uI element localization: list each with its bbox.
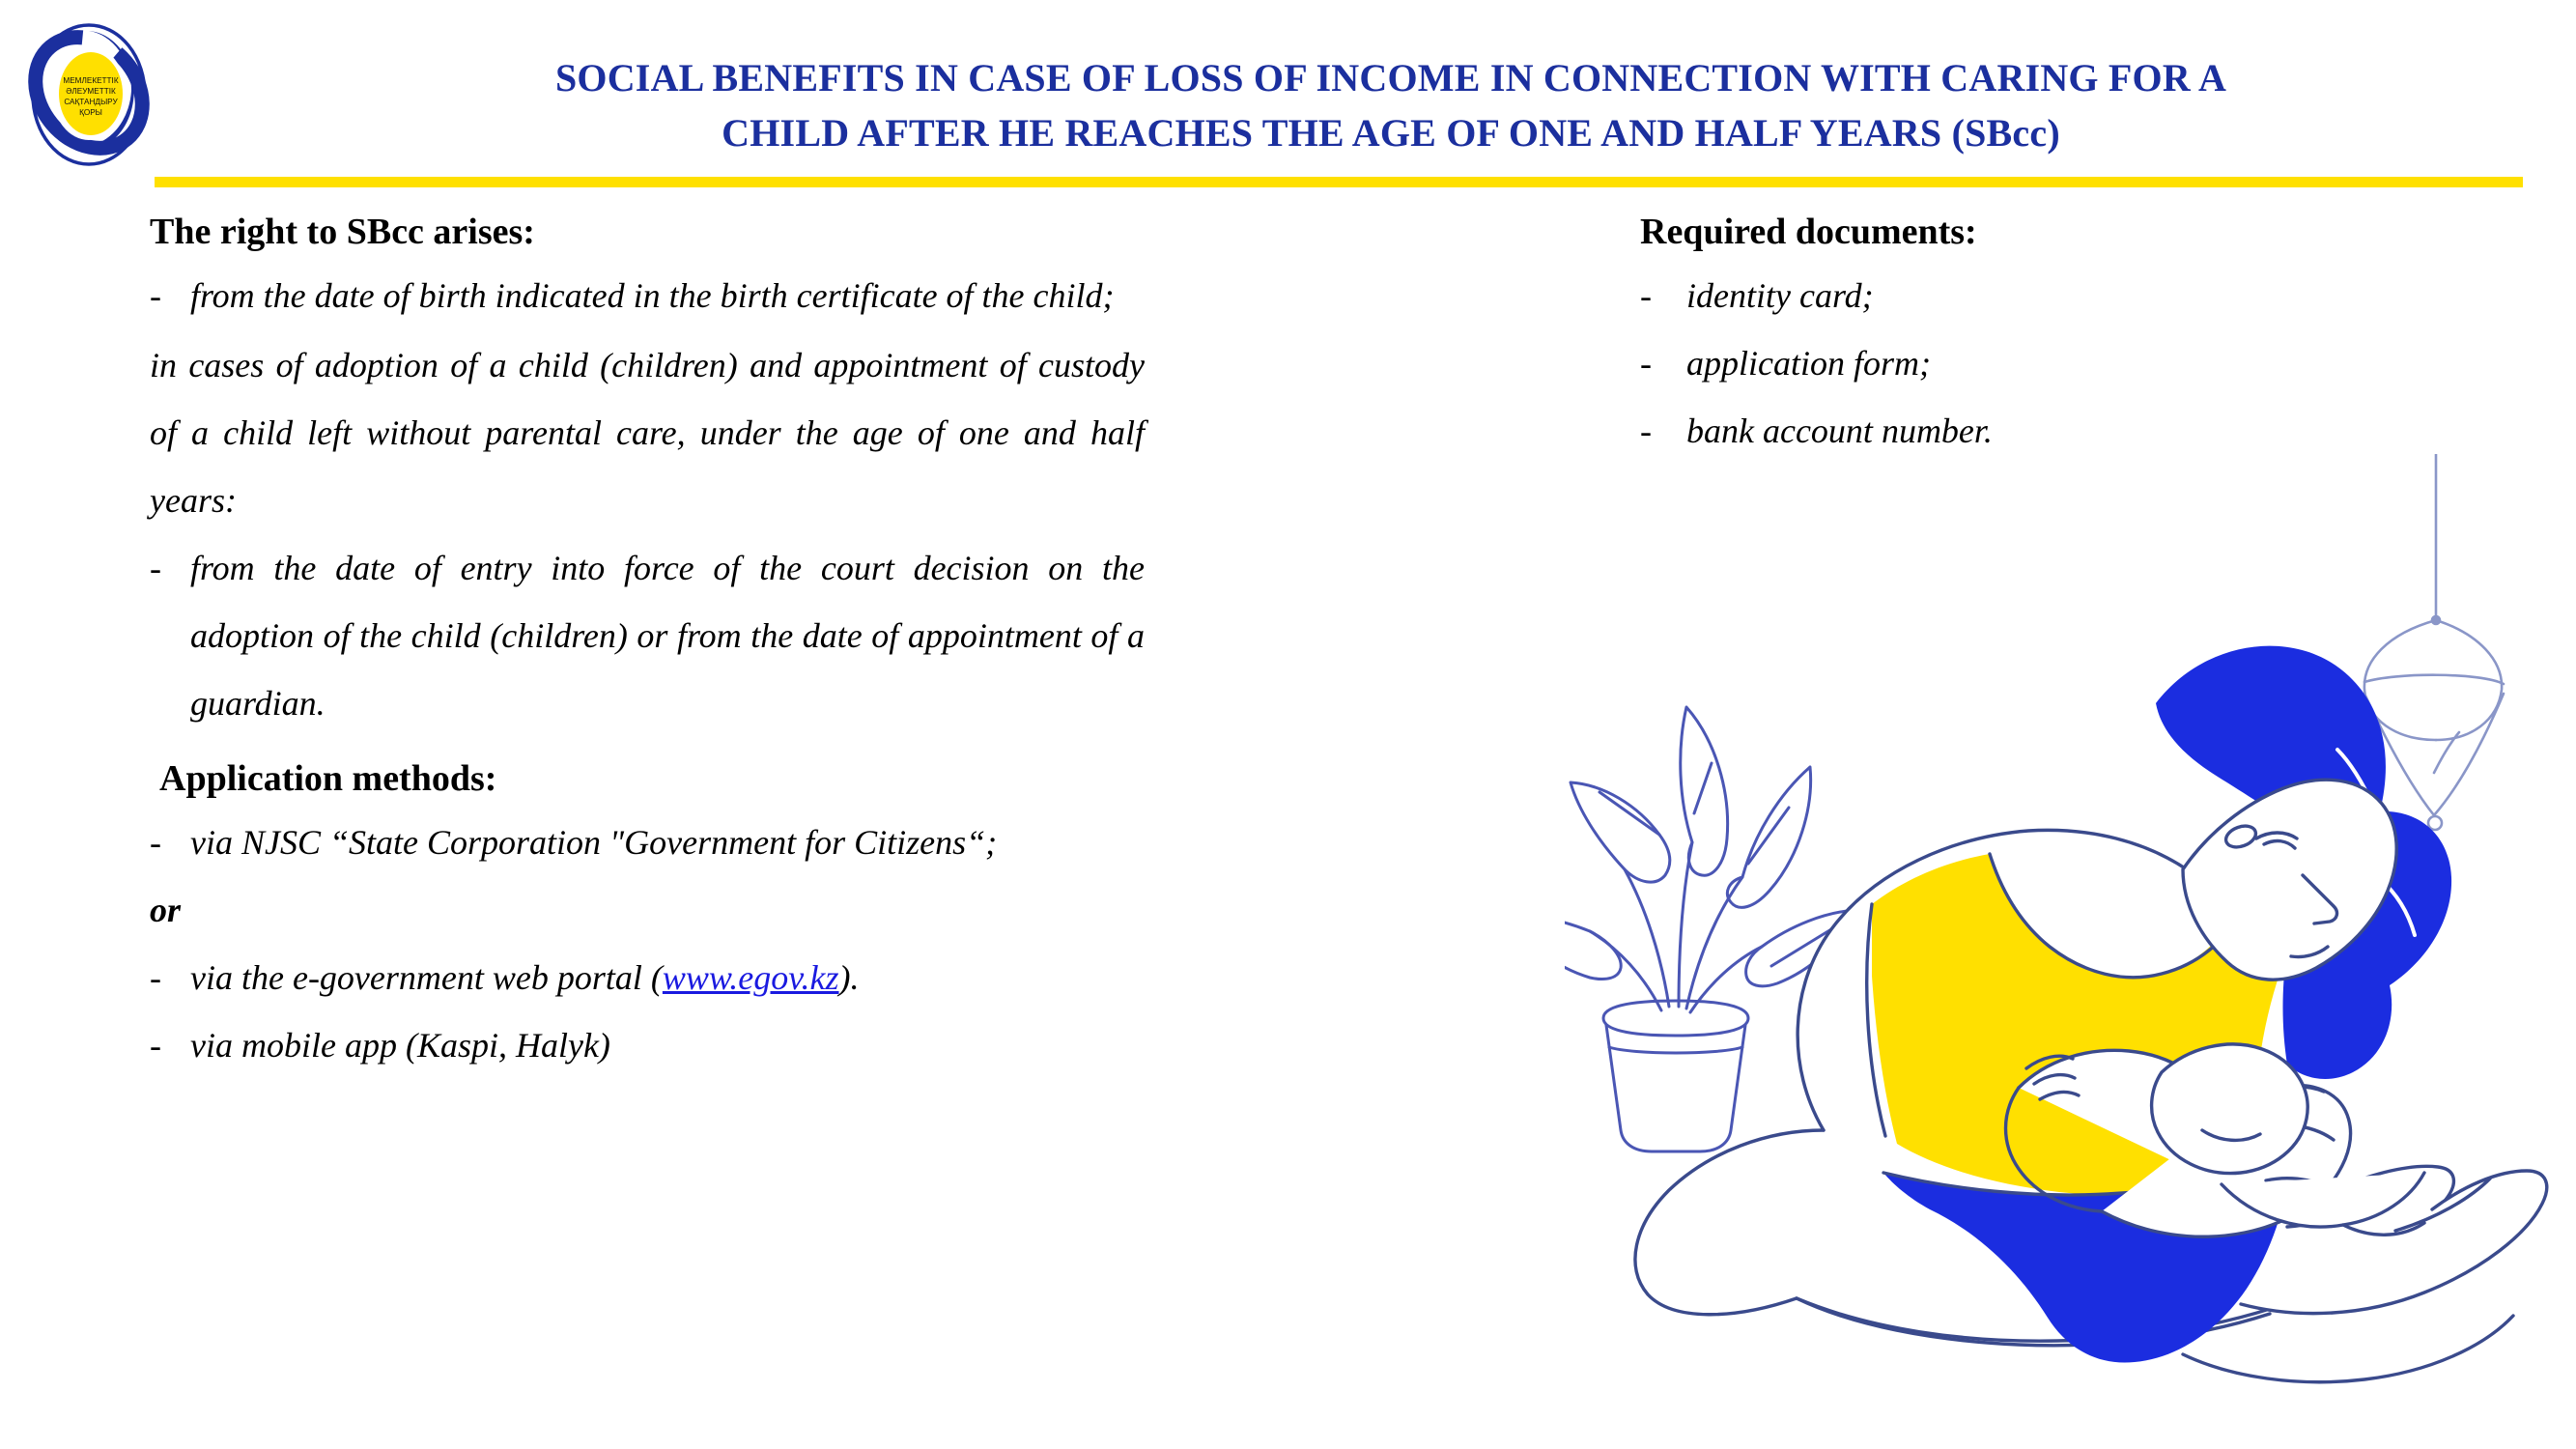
bullet-dash: - [150, 534, 190, 602]
mother-breastfeeding-baby-illustration [1565, 454, 2569, 1430]
page-header: МЕМЛЕКЕТТІК ӘЛЕУМЕТТІК САҚТАНДЫРУ ҚОРЫ S… [0, 0, 2576, 193]
bullet-dash: - [1632, 329, 1686, 397]
bullet-dash: - [150, 262, 190, 329]
bullet-text: via the e-government web portal (www.ego… [190, 944, 1145, 1011]
page-title: SOCIAL BENEFITS IN CASE OF LOSS OF INCOM… [290, 50, 2492, 160]
bullet-text: via NJSC “State Corporation "Government … [190, 809, 1145, 876]
list-item: - from the date of birth indicated in th… [150, 262, 1145, 329]
logo-text-line-1: МЕМЛЕКЕТТІК [63, 76, 118, 85]
logo-text-line-3: САҚТАНДЫРУ [64, 98, 118, 106]
list-item: - via mobile app (Kaspi, Halyk) [150, 1011, 1145, 1079]
list-item: - via the e-government web portal (www.e… [150, 944, 1145, 1011]
list-item: - from the date of entry into force of t… [150, 534, 1145, 737]
logo-text-line-4: ҚОРЫ [79, 108, 102, 117]
left-content-column: The right to SBcc arises: - from the dat… [150, 208, 1145, 1079]
bullet-text: from the date of birth indicated in the … [190, 262, 1145, 329]
bullet-dash: - [150, 944, 190, 1011]
state-social-insurance-fund-logo: МЕМЛЕКЕТТІК ӘЛЕУМЕТТІК САҚТАНДЫРУ ҚОРЫ [23, 21, 155, 168]
bullet-dash: - [150, 809, 190, 876]
bullet-text-prefix: via the e-government web portal ( [190, 958, 663, 997]
logo-text-line-2: ӘЛЕУМЕТТІК [66, 87, 116, 96]
egov-link[interactable]: www.egov.kz [663, 958, 839, 997]
bullet-dash: - [150, 1011, 190, 1079]
title-line-2: CHILD AFTER HE REACHES THE AGE OF ONE AN… [290, 105, 2492, 160]
adoption-custody-paragraph: in cases of adoption of a child (childre… [150, 331, 1145, 534]
bullet-text: via mobile app (Kaspi, Halyk) [190, 1011, 1145, 1079]
seated-mother-figure [1635, 646, 2547, 1382]
heading-application-methods: Application methods: [150, 754, 1145, 803]
bullet-text: identity card; [1686, 262, 2502, 329]
list-item: - via NJSC “State Corporation "Governmen… [150, 809, 1145, 876]
list-item: - identity card; [1632, 262, 2502, 329]
bullet-text: application form; [1686, 329, 2502, 397]
heading-right-to-sbcc: The right to SBcc arises: [150, 208, 1145, 256]
title-line-1: SOCIAL BENEFITS IN CASE OF LOSS OF INCOM… [290, 50, 2492, 105]
heading-required-documents: Required documents: [1632, 208, 2502, 256]
list-item: - application form; [1632, 329, 2502, 397]
bullet-text: from the date of entry into force of the… [190, 534, 1145, 737]
or-separator: or [150, 876, 1145, 944]
bullet-dash: - [1632, 262, 1686, 329]
bullet-text-suffix: ). [839, 958, 860, 997]
right-content-column: Required documents: - identity card; - a… [1632, 208, 2502, 465]
title-divider-rule [155, 177, 2523, 187]
